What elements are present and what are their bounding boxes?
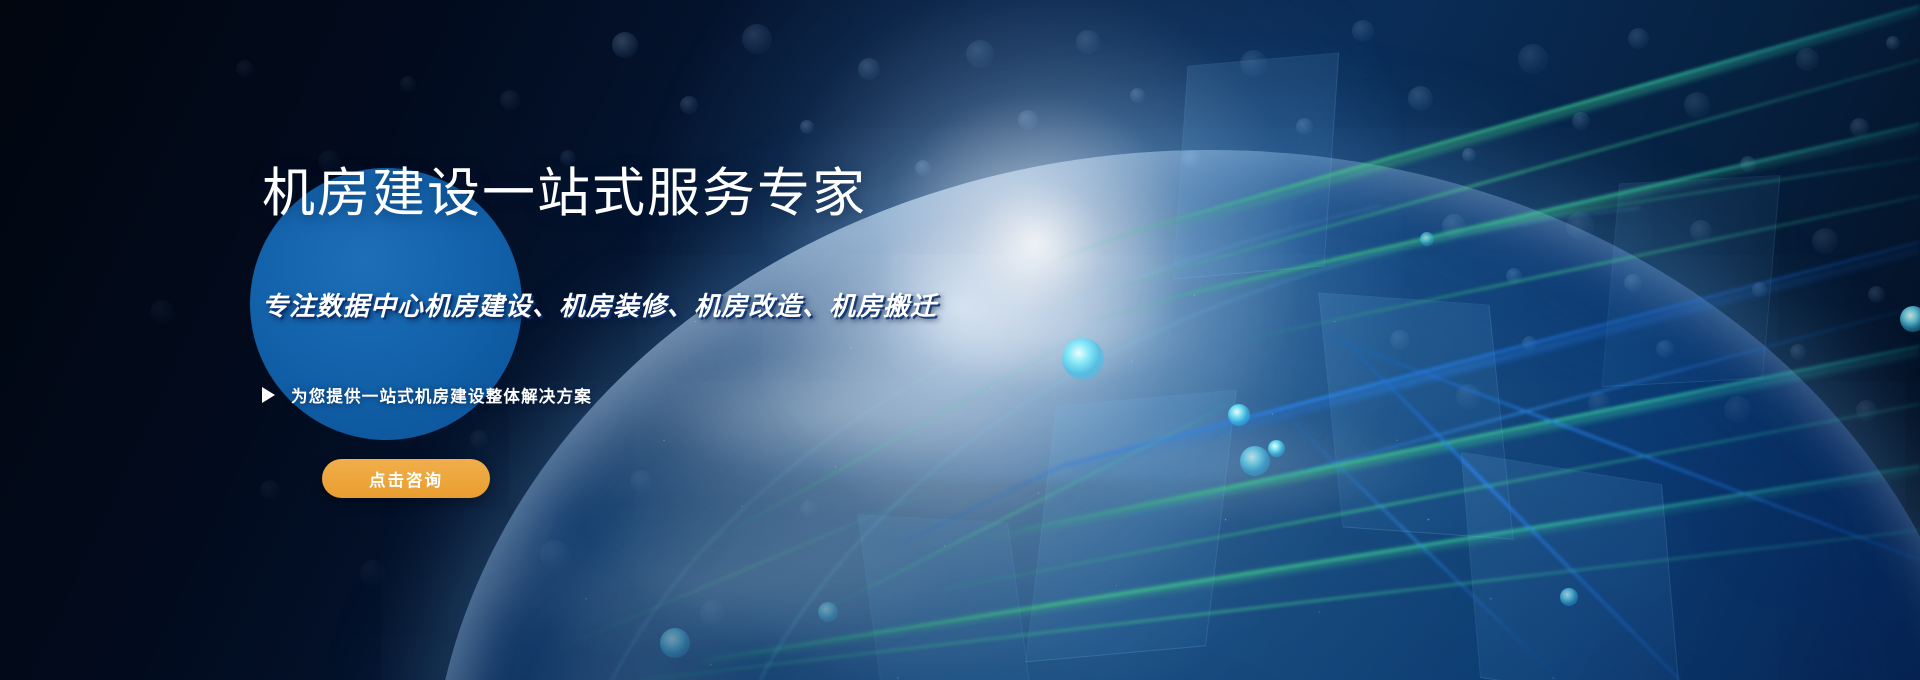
hero-banner: 机房建设一站式服务专家 专注数据中心机房建设、机房装修、机房改造、机房搬迁 为您… (0, 0, 1920, 680)
banner-content: 机房建设一站式服务专家 专注数据中心机房建设、机房装修、机房改造、机房搬迁 为您… (0, 0, 1920, 680)
banner-subheadline: 专注数据中心机房建设、机房装修、机房改造、机房搬迁 (262, 286, 937, 323)
banner-tagline: 为您提供一站式机房建设整体解决方案 (262, 383, 592, 407)
play-triangle-icon (262, 387, 275, 403)
consult-cta-button[interactable]: 点击咨询 (322, 459, 490, 498)
banner-tagline-text: 为您提供一站式机房建设整体解决方案 (291, 383, 592, 407)
banner-headline: 机房建设一站式服务专家 (262, 163, 867, 226)
